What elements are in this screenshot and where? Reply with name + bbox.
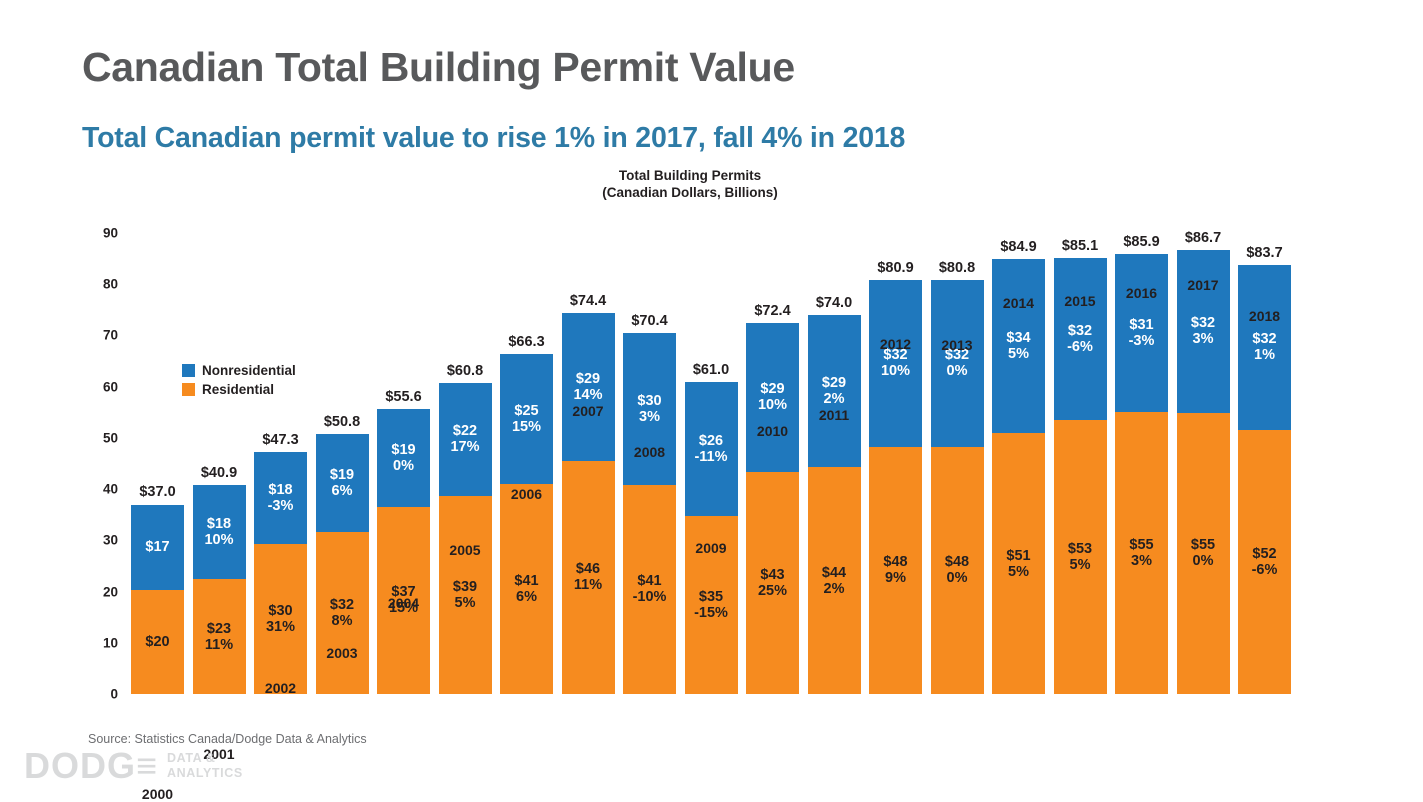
bar-segment-residential-label: $35-15% [694,589,728,621]
bar-segment-nonresidential-label: $292% [822,375,846,407]
bar-group[interactable]: $550%$323%$86.72017 [1177,250,1230,694]
bar-segment-nonresidential-label: $26-11% [694,433,727,465]
bar-segment-nonresidential[interactable]: $2217% [439,383,492,497]
chart-header: Total Building Permits (Canadian Dollars… [490,167,890,201]
x-axis-tick-label: 2004 [388,595,419,611]
chart-title: Total Building Permits [490,167,890,184]
dodge-logo: DODG≡ DATA & ANALYTICS [24,748,243,784]
x-axis-tick-label: 2015 [1064,293,1095,309]
legend-swatch-residential-icon [182,383,195,396]
legend-item-residential: Residential [182,381,296,398]
bar-segment-nonresidential[interactable]: $18-3% [254,452,307,544]
bar-group[interactable]: $328%$196%$50.82003 [316,434,369,694]
bar-segment-nonresidential[interactable]: $32-6% [1054,258,1107,420]
bar-segment-nonresidential-label: $32-6% [1067,323,1093,355]
bar-segment-residential-label: $20 [145,634,169,650]
bar-group[interactable]: $489%$3210%$80.92012 [869,280,922,694]
dodge-tagline-line2: ANALYTICS [167,766,243,781]
bar-segment-residential-label: $480% [945,554,969,586]
x-axis-tick-label: 2014 [1003,295,1034,311]
x-axis-tick-label: 2009 [695,540,726,556]
legend-item-nonresidential: Nonresidential [182,362,296,379]
bar-segment-residential[interactable]: $535% [1054,420,1107,694]
x-axis-tick-label: 2008 [634,444,665,460]
bar-segment-nonresidential[interactable]: $3210% [869,280,922,447]
y-axis-tick: 60 [103,379,118,394]
bar-total-label: $85.9 [1123,234,1159,250]
bar-group[interactable]: $535%$32-6%$85.12015 [1054,258,1107,694]
bar-segment-residential-label: $52-6% [1252,546,1278,578]
chart-subtitle: (Canadian Dollars, Billions) [490,184,890,201]
bar-total-label: $83.7 [1246,245,1282,261]
bar-segment-nonresidential-label: $2217% [450,423,479,455]
bar-segment-residential[interactable]: $20 [131,590,184,694]
bar-segment-residential[interactable]: $480% [931,447,984,694]
bar-segment-residential-label: $4325% [758,567,787,599]
bar-segment-nonresidential-label: $2515% [512,403,541,435]
bar-segment-nonresidential[interactable]: $17 [131,505,184,591]
bar-group[interactable]: $3715%$190%$55.62004 [377,409,430,694]
x-axis-tick-label: 2003 [326,645,357,661]
bar-total-label: $47.3 [262,432,298,448]
bar-total-label: $50.8 [324,414,360,430]
bar-segment-nonresidential[interactable]: $323% [1177,250,1230,413]
y-axis: 0102030405060708090 [88,233,118,694]
chart-legend: Nonresidential Residential [182,362,296,400]
bar-total-label: $37.0 [139,484,175,500]
bar-total-label: $40.9 [201,465,237,481]
plot-area: $20$17$37.02000$2311%$1810%$40.92001$303… [127,233,1294,694]
bar-total-label: $80.9 [877,260,913,276]
y-axis-tick: 0 [110,687,118,702]
bar-segment-nonresidential[interactable]: $1810% [193,485,246,580]
bar-segment-nonresidential[interactable]: $2515% [500,354,553,484]
slide-canvas: Canadian Total Building Permit Value Tot… [0,0,1423,800]
bar-segment-nonresidential-label: $345% [1006,330,1030,362]
y-axis-tick: 20 [103,584,118,599]
bar-segment-residential[interactable]: $395% [439,496,492,694]
dodge-tagline: DATA & ANALYTICS [167,751,243,781]
bar-segment-residential-label: $328% [330,597,354,629]
x-axis-tick-label: 2013 [941,337,972,353]
bar-segment-nonresidential[interactable]: $2910% [746,323,799,472]
bar-segment-nonresidential-label: $323% [1191,315,1215,347]
x-axis-tick-label: 2006 [511,486,542,502]
bar-total-label: $70.4 [631,313,667,329]
bar-segment-nonresidential-label: $321% [1252,331,1276,363]
y-axis-tick: 30 [103,533,118,548]
bar-total-label: $74.0 [816,295,852,311]
x-axis-tick-label: 2007 [572,403,603,419]
bar-segment-residential[interactable]: $3031% [254,544,307,694]
bar-segment-residential-label: $550% [1191,537,1215,569]
bar-total-label: $84.9 [1000,239,1036,255]
bar-segment-residential[interactable]: $550% [1177,413,1230,694]
y-axis-tick: 40 [103,482,118,497]
bar-segment-residential-label: $553% [1129,537,1153,569]
bar-group[interactable]: $2311%$1810%$40.92001 [193,485,246,694]
bar-segment-residential[interactable]: $442% [808,467,861,694]
x-axis-tick-label: 2018 [1249,308,1280,324]
bar-group[interactable]: $553%$31-3%$85.92016 [1115,254,1168,694]
bar-total-label: $72.4 [754,303,790,319]
bar-segment-nonresidential[interactable]: $26-11% [685,382,738,516]
bar-segment-residential-label: $535% [1068,541,1092,573]
legend-label-nonresidential: Nonresidential [202,363,296,378]
bar-group[interactable]: $480%$320%$80.82013 [931,280,984,694]
bar-total-label: $66.3 [508,334,544,350]
bar-segment-residential[interactable]: $328% [316,532,369,694]
dodge-tagline-line1: DATA & [167,751,243,766]
bar-total-label: $61.0 [693,362,729,378]
bar-segment-residential[interactable]: $4325% [746,472,799,694]
source-note: Source: Statistics Canada/Dodge Data & A… [88,732,367,746]
x-axis-tick-label: 2011 [819,407,849,423]
bar-segment-residential-label: $395% [453,579,477,611]
bar-group[interactable]: $41-10%$303%$70.42008 [623,333,676,694]
bar-segment-residential[interactable]: $515% [992,433,1045,694]
bar-segment-nonresidential[interactable]: $190% [377,409,430,506]
bar-segment-residential[interactable]: $41-10% [623,485,676,694]
legend-swatch-nonresidential-icon [182,364,195,377]
bar-segment-residential[interactable]: $52-6% [1238,430,1291,694]
bar-segment-residential[interactable]: $489% [869,447,922,694]
bar-segment-residential-label: $41-10% [633,573,667,605]
bar-segment-nonresidential[interactable]: $31-3% [1115,254,1168,412]
bar-total-label: $85.1 [1062,238,1098,254]
bar-segment-nonresidential[interactable]: $292% [808,315,861,467]
bar-segment-nonresidential-label: $18-3% [268,482,294,514]
x-axis-tick-label: 2017 [1187,277,1218,293]
bar-segment-nonresidential-label: $2910% [758,381,787,413]
bar-group[interactable]: $52-6%$321%$83.72018 [1238,265,1291,694]
bar-segment-nonresidential-label: $31-3% [1129,317,1155,349]
x-axis-tick-label: 2002 [265,680,296,696]
bar-segment-nonresidential[interactable]: $320% [931,280,984,446]
bar-group[interactable]: $395%$2217%$60.82005 [439,383,492,694]
bar-total-label: $80.8 [939,260,975,276]
bar-segment-nonresidential-label: $17 [145,539,169,555]
page-subtitle: Total Canadian permit value to rise 1% i… [82,122,905,155]
bar-segment-nonresidential[interactable]: $196% [316,434,369,532]
bar-segment-nonresidential[interactable]: $2914% [562,313,615,461]
x-axis-tick-label: 2010 [757,423,788,439]
bar-group[interactable]: $4325%$2910%$72.42010 [746,323,799,694]
y-axis-tick: 90 [103,226,118,241]
bar-group[interactable]: $20$17$37.02000 [131,504,184,694]
bar-segment-residential[interactable]: $416% [500,484,553,694]
bar-total-label: $86.7 [1185,230,1221,246]
dodge-wordmark: DODG≡ [24,748,158,784]
bar-group[interactable]: $442%$292%$74.02011 [808,315,861,694]
bar-segment-residential-label: $2311% [205,621,233,653]
legend-label-residential: Residential [202,382,274,397]
y-axis-tick: 80 [103,277,118,292]
bar-segment-nonresidential-label: $1810% [204,516,233,548]
bar-segment-nonresidential-label: $196% [330,467,354,499]
bar-segment-nonresidential-label: $303% [637,393,661,425]
bar-segment-residential[interactable]: $553% [1115,412,1168,694]
bar-total-label: $55.6 [385,389,421,405]
bar-segment-residential-label: $515% [1006,548,1030,580]
y-axis-tick: 50 [103,430,118,445]
bar-segment-residential-label: $442% [822,565,846,597]
bar-segment-residential-label: $4611% [574,561,602,593]
bar-group[interactable]: $416%$2515%$66.32006 [500,354,553,694]
bar-group[interactable]: $3031%$18-3%$47.32002 [254,452,307,694]
y-axis-tick: 70 [103,328,118,343]
bar-total-label: $74.4 [570,293,606,309]
bar-segment-nonresidential[interactable]: $303% [623,333,676,484]
page-title: Canadian Total Building Permit Value [82,44,795,91]
bar-group[interactable]: $4611%$2914%$74.42007 [562,313,615,694]
bar-segment-nonresidential[interactable]: $321% [1238,265,1291,429]
bar-segment-nonresidential-label: $2914% [573,371,602,403]
bar-segment-nonresidential-label: $190% [391,442,415,474]
bar-segment-residential[interactable]: $4611% [562,461,615,694]
x-axis-tick-label: 2016 [1126,285,1157,301]
bar-segment-residential-label: $416% [514,573,538,605]
x-axis-tick-label: 2005 [449,542,480,558]
y-axis-tick: 10 [103,635,118,650]
bar-segment-residential-label: $489% [883,554,907,586]
bar-segment-residential-label: $3031% [266,603,295,635]
x-axis-tick-label: 2012 [880,336,911,352]
bar-group[interactable]: $515%$345%$84.92014 [992,259,1045,694]
bar-total-label: $60.8 [447,363,483,379]
bar-group[interactable]: $35-15%$26-11%$61.02009 [685,382,738,694]
bar-segment-residential[interactable]: $2311% [193,579,246,694]
bar-segment-nonresidential[interactable]: $345% [992,259,1045,433]
